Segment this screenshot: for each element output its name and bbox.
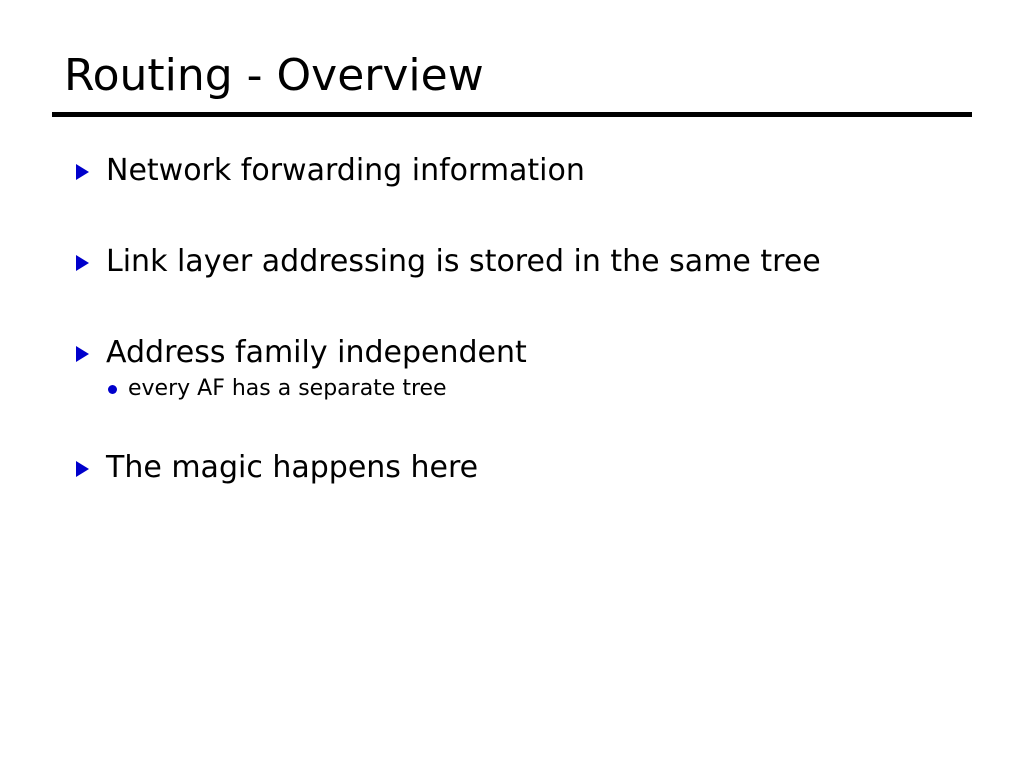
sub-list-item: every AF has a separate tree	[70, 374, 970, 404]
title-divider	[52, 112, 972, 117]
triangle-right-marker-icon	[76, 346, 89, 362]
list-item: Network forwarding information	[70, 152, 970, 190]
spacer	[70, 404, 970, 449]
list-item-label: Link layer addressing is stored in the s…	[106, 244, 821, 279]
triangle-right-marker-icon	[76, 461, 89, 477]
spacer	[70, 281, 970, 334]
list-item: The magic happens here	[70, 449, 970, 487]
list-item: Address family independent	[70, 334, 970, 372]
triangle-right-marker-icon	[76, 255, 89, 271]
list-item-label: The magic happens here	[106, 450, 478, 485]
slide-body-outline: Network forwarding information Link laye…	[70, 152, 970, 487]
triangle-right-marker-icon	[76, 164, 89, 180]
page-title: Routing - Overview	[64, 48, 976, 104]
sub-list-item-label: every AF has a separate tree	[128, 376, 447, 401]
presentation-slide: Routing - Overview Network forwarding in…	[0, 0, 1024, 768]
list-item-label: Address family independent	[106, 335, 527, 370]
dot-marker-icon	[108, 385, 117, 394]
list-item-label: Network forwarding information	[106, 153, 585, 188]
list-item: Link layer addressing is stored in the s…	[70, 243, 970, 281]
spacer	[70, 190, 970, 243]
